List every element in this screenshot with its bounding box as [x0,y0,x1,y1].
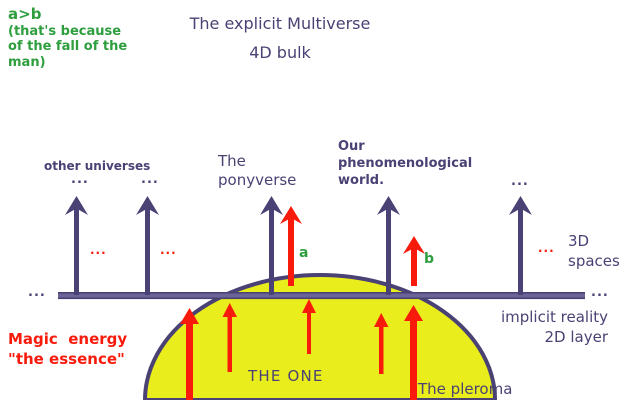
label-arrow-b: b [424,251,434,268]
ellipsis-above-arrow-5: ... [511,174,529,189]
ellipsis-baseline-left: ... [28,285,46,300]
ellipsis-above-arrow-2: ... [141,172,159,187]
arrow-magnitude-b [403,236,425,286]
label-our-phenomenological-world: Our phenomenological world. [338,139,472,190]
label-magic-energy: Magic energy "the essence" [8,330,127,369]
ellipsis-above-arrow-1: ... [71,172,89,187]
arrow-our-world [377,196,400,295]
diagram-title-line2: 4D bulk [0,44,560,63]
arrow-other-universe-2 [136,196,159,295]
arrow-other-universe-1 [65,196,88,295]
ellipsis-between-arrows-2: ... [160,243,177,257]
ellipsis-between-arrows-5: ... [538,241,555,255]
label-other-universes: other universes [44,159,150,173]
label-ponyverse: The ponyverse [218,152,296,190]
label-implicit-reality: implicit reality 2D layer [330,307,608,348]
diagram-canvas: a>b (that's because of the fall of the m… [0,0,640,400]
diagram-title-line1: The explicit Multiverse [0,15,560,34]
label-3d-spaces: 3D spaces [568,232,620,271]
ellipsis-baseline-right: ... [591,285,609,300]
label-arrow-a: a [299,245,308,262]
implicit-reality-baseline [58,292,585,299]
arrow-third-space [509,196,532,295]
label-the-one: THE ONE [248,368,324,386]
ellipsis-between-arrows-1: ... [90,243,107,257]
label-the-pleroma: The pleroma [418,381,512,399]
